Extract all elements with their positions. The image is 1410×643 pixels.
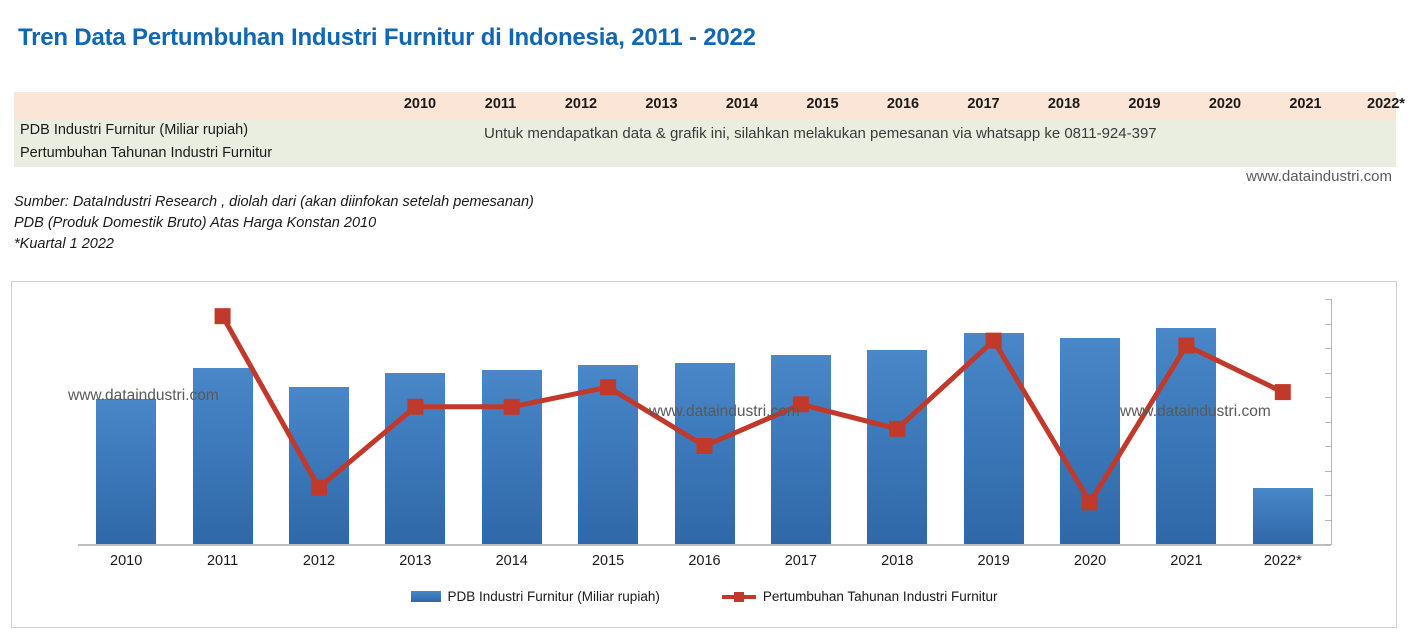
secondary-y-axis-tick [1325, 446, 1331, 447]
source-note-line-3: *Kuartal 1 2022 [14, 234, 534, 255]
secondary-y-axis-tick [1325, 471, 1331, 472]
secondary-y-axis-tick [1325, 544, 1331, 545]
legend-item-growth[interactable]: Pertumbuhan Tahunan Industri Furnitur [722, 589, 998, 604]
x-axis-label-2013: 2013 [370, 553, 460, 569]
secondary-y-axis-tick [1325, 324, 1331, 325]
secondary-y-axis-tick [1325, 348, 1331, 349]
table-year-header-2022: 2022* [1348, 96, 1410, 112]
plot-area [12, 282, 1396, 627]
table-year-header-2015: 2015 [785, 96, 861, 112]
table-year-header-2012: 2012 [543, 96, 619, 112]
x-axis-label-2022: 2022* [1238, 553, 1328, 569]
x-axis-label-2011: 2011 [178, 553, 268, 569]
x-axis-label-2015: 2015 [563, 553, 653, 569]
watermark-top-right: www.dataindustri.com [1246, 168, 1392, 185]
line-marker-2020[interactable] [1082, 494, 1098, 510]
chart-legend: PDB Industri Furnitur (Miliar rupiah) Pe… [12, 589, 1396, 604]
table-year-header-2013: 2013 [624, 96, 700, 112]
line-marker-2016[interactable] [697, 438, 713, 454]
x-axis-label-2020: 2020 [1045, 553, 1135, 569]
secondary-y-axis-tick [1325, 397, 1331, 398]
table-year-header-2017: 2017 [946, 96, 1022, 112]
secondary-y-axis-tick [1325, 495, 1331, 496]
data-table: 2010201120122013201420152016201720182019… [14, 92, 1396, 167]
table-row-label-growth: Pertumbuhan Tahunan Industri Furnitur [20, 145, 272, 161]
legend-label-growth: Pertumbuhan Tahunan Industri Furnitur [763, 589, 998, 604]
line-marker-2019[interactable] [986, 333, 1002, 349]
table-year-header-2021: 2021 [1268, 96, 1344, 112]
x-axis-label-2010: 2010 [81, 553, 171, 569]
secondary-y-axis-line [1331, 299, 1332, 545]
line-marker-2011[interactable] [215, 308, 231, 324]
x-axis-label-2019: 2019 [949, 553, 1039, 569]
source-note-line-1: Sumber: DataIndustri Research , diolah d… [14, 192, 534, 213]
x-axis-label-2016: 2016 [660, 553, 750, 569]
line-marker-2022[interactable] [1275, 384, 1291, 400]
page-title: Tren Data Pertumbuhan Industri Furnitur … [18, 24, 756, 52]
source-note-line-2: PDB (Produk Domestik Bruto) Atas Harga K… [14, 213, 534, 234]
growth-line-series [12, 282, 1398, 629]
chart-container: www.dataindustri.com www.dataindustri.co… [11, 281, 1397, 628]
table-year-header-2011: 2011 [463, 96, 539, 112]
table-year-header-2014: 2014 [704, 96, 780, 112]
x-axis-label-2014: 2014 [467, 553, 557, 569]
x-axis-label-2012: 2012 [274, 553, 364, 569]
x-axis-line [78, 544, 1331, 546]
table-year-header-2019: 2019 [1107, 96, 1183, 112]
line-marker-2017[interactable] [793, 396, 809, 412]
table-year-header-2020: 2020 [1187, 96, 1263, 112]
x-axis-label-2021: 2021 [1141, 553, 1231, 569]
line-marker-2015[interactable] [600, 379, 616, 395]
table-body-rows: PDB Industri Furnitur (Miliar rupiah) Pe… [14, 120, 1396, 167]
line-marker-2013[interactable] [407, 399, 423, 415]
table-year-header-2016: 2016 [865, 96, 941, 112]
table-row-label-pdb: PDB Industri Furnitur (Miliar rupiah) [20, 122, 248, 138]
source-notes: Sumber: DataIndustri Research , diolah d… [14, 192, 534, 255]
x-axis-label-2017: 2017 [756, 553, 846, 569]
table-year-header-2018: 2018 [1026, 96, 1102, 112]
secondary-y-axis-tick [1325, 299, 1331, 300]
legend-label-pdb: PDB Industri Furnitur (Miliar rupiah) [448, 589, 660, 604]
line-marker-2014[interactable] [504, 399, 520, 415]
x-axis-label-2018: 2018 [852, 553, 942, 569]
secondary-y-axis-tick [1325, 520, 1331, 521]
line-marker-swatch-icon [722, 591, 756, 603]
line-marker-2021[interactable] [1178, 338, 1194, 354]
secondary-y-axis-tick [1325, 422, 1331, 423]
line-marker-2012[interactable] [311, 480, 327, 496]
order-instruction-note: Untuk mendapatkan data & grafik ini, sil… [484, 125, 1157, 142]
bar-swatch-icon [411, 591, 441, 602]
table-header-row: 2010201120122013201420152016201720182019… [14, 92, 1396, 120]
line-marker-2018[interactable] [889, 421, 905, 437]
secondary-y-axis-tick [1325, 373, 1331, 374]
legend-item-pdb[interactable]: PDB Industri Furnitur (Miliar rupiah) [411, 589, 660, 604]
table-year-header-2010: 2010 [382, 96, 458, 112]
